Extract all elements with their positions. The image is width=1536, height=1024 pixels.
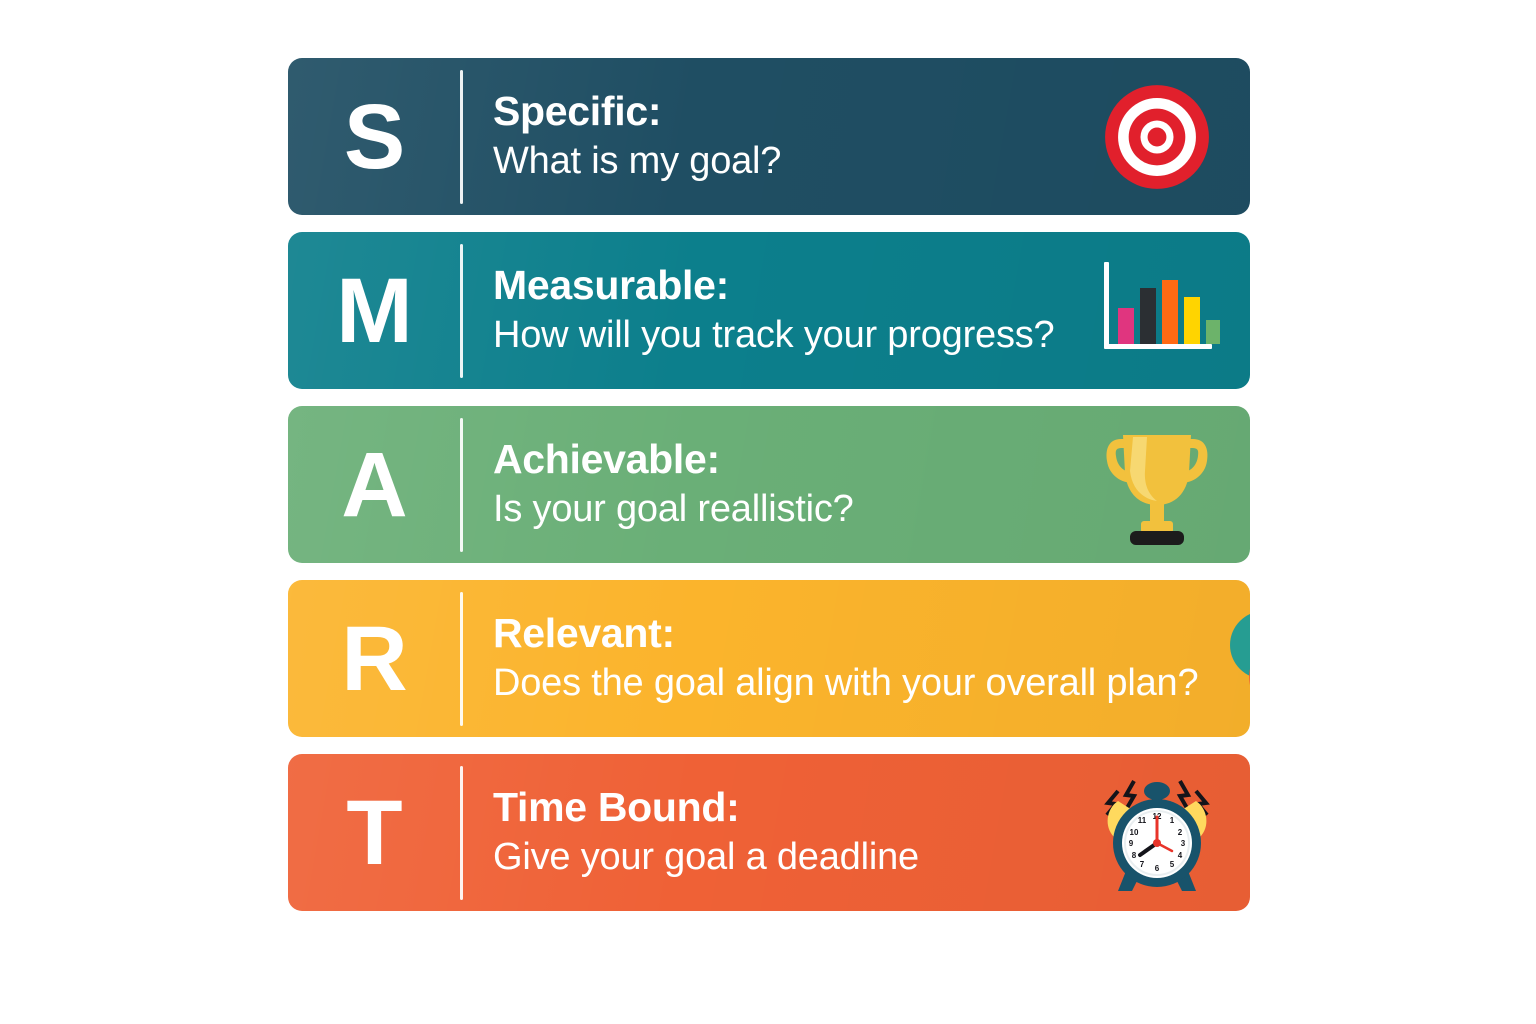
svg-text:8: 8 bbox=[1132, 851, 1137, 860]
row-text-measurable: Measurable: How will you track your prog… bbox=[463, 262, 1072, 359]
svg-text:6: 6 bbox=[1155, 864, 1160, 873]
smart-row-achievable[interactable]: A Achievable: Is your goal reallistic? bbox=[288, 406, 1250, 563]
svg-text:11: 11 bbox=[1138, 816, 1147, 825]
row-text-relevant: Relevant: Does the goal align with your … bbox=[463, 610, 1198, 707]
row-subtitle: What is my goal? bbox=[493, 139, 1072, 185]
letter-badge-r: R bbox=[288, 613, 460, 705]
row-title: Achievable: bbox=[493, 436, 1072, 484]
smart-row-specific[interactable]: S Specific: What is my goal? bbox=[288, 58, 1250, 215]
row-text-achievable: Achievable: Is your goal reallistic? bbox=[463, 436, 1072, 533]
venn-diagram-icon bbox=[1198, 580, 1250, 737]
letter-glyph: M bbox=[336, 265, 412, 357]
smart-row-measurable[interactable]: M Measurable: How will you track your pr… bbox=[288, 232, 1250, 389]
letter-glyph: A bbox=[341, 439, 406, 531]
svg-text:3: 3 bbox=[1181, 839, 1186, 848]
row-title: Relevant: bbox=[493, 610, 1198, 658]
letter-badge-m: M bbox=[288, 265, 460, 357]
svg-text:10: 10 bbox=[1130, 828, 1139, 837]
svg-text:9: 9 bbox=[1129, 839, 1134, 848]
smart-rows-container: S Specific: What is my goal? M bbox=[288, 58, 1250, 911]
alarm-clock-icon: 12 1 2 3 4 5 6 7 8 9 10 11 bbox=[1072, 754, 1242, 911]
row-subtitle: Does the goal align with your overall pl… bbox=[493, 661, 1198, 707]
letter-badge-a: A bbox=[288, 439, 460, 531]
row-subtitle: Give your goal a deadline bbox=[493, 835, 1072, 881]
row-text-time-bound: Time Bound: Give your goal a deadline bbox=[463, 784, 1072, 881]
row-subtitle: Is your goal reallistic? bbox=[493, 487, 1072, 533]
trophy-icon bbox=[1072, 406, 1242, 563]
bar-chart-icon bbox=[1072, 232, 1242, 389]
row-title: Time Bound: bbox=[493, 784, 1072, 832]
letter-badge-s: S bbox=[288, 91, 460, 183]
svg-text:4: 4 bbox=[1178, 851, 1183, 860]
letter-glyph: R bbox=[341, 613, 406, 705]
svg-text:1: 1 bbox=[1170, 816, 1175, 825]
letter-glyph: S bbox=[344, 91, 404, 183]
row-subtitle: How will you track your progress? bbox=[493, 313, 1072, 359]
row-title: Specific: bbox=[493, 88, 1072, 136]
smart-goals-infographic: S Specific: What is my goal? M bbox=[0, 0, 1536, 1024]
letter-badge-t: T bbox=[288, 787, 460, 879]
row-text-specific: Specific: What is my goal? bbox=[463, 88, 1072, 185]
row-title: Measurable: bbox=[493, 262, 1072, 310]
svg-text:2: 2 bbox=[1178, 828, 1183, 837]
target-bullseye-icon bbox=[1072, 58, 1242, 215]
svg-text:5: 5 bbox=[1170, 860, 1175, 869]
letter-glyph: T bbox=[346, 787, 401, 879]
smart-row-time-bound[interactable]: T Time Bound: Give your goal a deadline bbox=[288, 754, 1250, 911]
smart-row-relevant[interactable]: R Relevant: Does the goal align with you… bbox=[288, 580, 1250, 737]
svg-text:7: 7 bbox=[1140, 860, 1145, 869]
